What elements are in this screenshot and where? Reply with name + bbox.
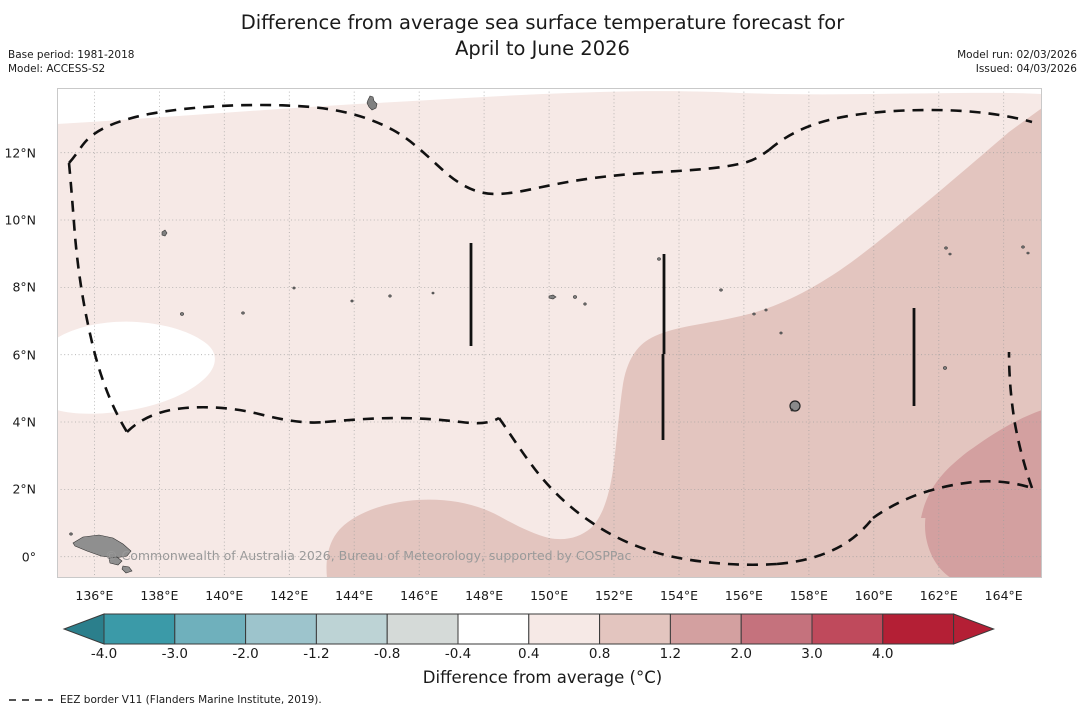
sst-anomaly-map[interactable]: © Commonwealth of Australia 2026, Bureau… [57, 88, 1042, 578]
map-canvas: © Commonwealth of Australia 2026, Bureau… [57, 88, 1042, 578]
colorbar-tick--0.8: -0.8 [374, 646, 400, 662]
xtick-136E: 136°E [75, 588, 113, 603]
colorbar-band-4 [387, 614, 458, 644]
xtick-162E: 162°E [920, 588, 958, 603]
xtick-154E: 154°E [660, 588, 698, 603]
model-name-text: Model: ACCESS-S2 [8, 62, 134, 76]
dashed-line-icon [8, 695, 54, 705]
page-title: Difference from average sea surface temp… [0, 10, 1085, 62]
colorbar-tick--4.0: -4.0 [91, 646, 117, 662]
colorbar-band-3 [316, 614, 387, 644]
colorbar-bands [64, 614, 994, 644]
base-period-text: Base period: 1981-2018 [8, 48, 134, 62]
xtick-140E: 140°E [205, 588, 243, 603]
model-metadata-right: Model run: 02/03/2026 Issued: 04/03/2026 [957, 48, 1077, 76]
colorbar-svg [0, 612, 1085, 646]
colorbar-band-5 [458, 614, 529, 644]
xtick-158E: 158°E [790, 588, 828, 603]
colorbar[interactable]: -4.0 -3.0 -2.0 -1.2 -0.8 -0.4 0.4 0.8 1.… [0, 612, 1085, 658]
ytick-2N: 2°N [12, 482, 36, 497]
colorbar-tick--3.0: -3.0 [162, 646, 188, 662]
colorbar-tick-4.0: 4.0 [872, 646, 893, 662]
colorbar-band-1 [175, 614, 246, 644]
colorbar-tick-0.8: 0.8 [589, 646, 610, 662]
colorbar-band-7 [600, 614, 671, 644]
colorbar-extend-low [64, 614, 104, 644]
colorbar-band-10 [812, 614, 883, 644]
xtick-142E: 142°E [270, 588, 308, 603]
colorbar-band-11 [883, 614, 954, 644]
xtick-146E: 146°E [400, 588, 438, 603]
model-metadata-left: Base period: 1981-2018 Model: ACCESS-S2 [8, 48, 134, 76]
xtick-138E: 138°E [140, 588, 178, 603]
xtick-152E: 152°E [595, 588, 633, 603]
colorbar-band-2 [246, 614, 317, 644]
ytick-4N: 4°N [12, 415, 36, 430]
colorbar-tick--0.4: -0.4 [445, 646, 471, 662]
issued-text: Issued: 04/03/2026 [957, 62, 1077, 76]
colorbar-tick--2.0: -2.0 [232, 646, 258, 662]
xtick-156E: 156°E [725, 588, 763, 603]
eez-legend-label: EEZ border V11 (Flanders Marine Institut… [60, 694, 322, 706]
model-run-text: Model run: 02/03/2026 [957, 48, 1077, 62]
ytick-8N: 8°N [12, 280, 36, 295]
colorbar-band-9 [741, 614, 812, 644]
ytick-12N: 12°N [4, 145, 36, 160]
colorbar-tick-1.2: 1.2 [660, 646, 681, 662]
colorbar-band-0 [104, 614, 175, 644]
eez-border-legend: EEZ border V11 (Flanders Marine Institut… [8, 694, 322, 706]
colorbar-tick-0.4: 0.4 [518, 646, 539, 662]
colorbar-band-6 [529, 614, 600, 644]
colorbar-axis-label: Difference from average (°C) [0, 668, 1085, 687]
ytick-0: 0° [22, 549, 36, 564]
colorbar-tick-2.0: 2.0 [730, 646, 751, 662]
xtick-164E: 164°E [985, 588, 1023, 603]
colorbar-extend-high [954, 614, 994, 644]
xtick-160E: 160°E [855, 588, 893, 603]
colorbar-tick--1.2: -1.2 [303, 646, 329, 662]
colorbar-tick-3.0: 3.0 [801, 646, 822, 662]
xtick-150E: 150°E [530, 588, 568, 603]
ytick-10N: 10°N [4, 213, 36, 228]
ytick-6N: 6°N [12, 347, 36, 362]
xtick-148E: 148°E [465, 588, 503, 603]
copyright-watermark: © Commonwealth of Australia 2026, Bureau… [105, 548, 631, 563]
colorbar-band-8 [670, 614, 741, 644]
xtick-144E: 144°E [335, 588, 373, 603]
